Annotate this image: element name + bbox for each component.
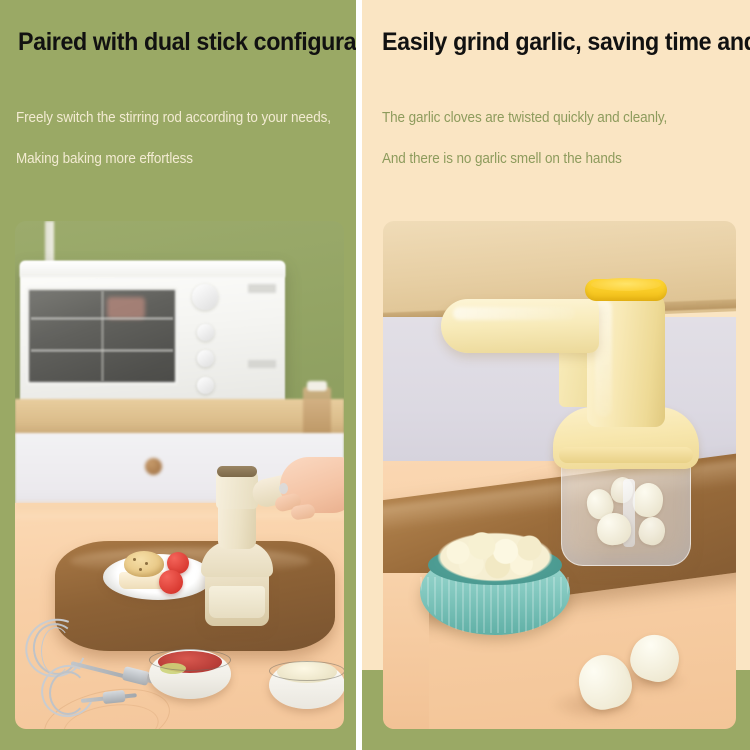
handle-highlight [453, 307, 575, 320]
left-scene [15, 221, 344, 729]
fingernail [279, 483, 288, 494]
pastry-seed [145, 562, 148, 565]
right-scene [383, 221, 736, 729]
ramekin-rim [269, 661, 344, 681]
panel-left: Paired with dual stick configuration Fre… [0, 0, 356, 750]
product-feature-banner: Paired with dual stick configuration Fre… [0, 0, 750, 750]
right-headline: Easily grind garlic, saving time and eff… [382, 28, 750, 57]
oven-knob [197, 324, 214, 341]
ramekin-rim [149, 649, 231, 671]
cabinet-knob [145, 458, 162, 475]
left-product-photo [15, 221, 344, 729]
chopper-contents [209, 586, 265, 618]
yellow-cap-face [591, 278, 661, 291]
panel-right: Easily grind garlic, saving time and eff… [362, 0, 750, 750]
whisk-collar [122, 666, 151, 686]
chopper-cap-ring [559, 447, 693, 463]
pastry [124, 551, 164, 577]
left-headline: Paired with dual stick configuration [18, 28, 356, 57]
minced-garlic [429, 529, 561, 585]
whisk-wire [49, 671, 87, 715]
left-body-line-2: Making baking more effortless [16, 151, 193, 167]
pastry-seed [139, 568, 142, 571]
chopper-top-cap [217, 466, 257, 477]
oven-rack-divider [101, 291, 104, 381]
right-body-line-1: The garlic cloves are twisted quickly an… [382, 110, 667, 126]
oven-knob [197, 377, 214, 394]
whisk-collar [102, 690, 125, 704]
whisk-attachments [19, 617, 169, 729]
background-jar-lid [307, 381, 327, 391]
cherry-tomato [159, 570, 183, 594]
toaster-oven-top [20, 261, 285, 277]
oven-knob [197, 350, 214, 367]
oven-label [248, 284, 276, 293]
left-body-line-1: Freely switch the stirring rod according… [16, 110, 331, 126]
pastry-seed [133, 558, 136, 561]
right-product-photo [383, 221, 736, 729]
wood-countertop [15, 399, 344, 437]
oven-label [248, 360, 276, 368]
oven-knob [192, 284, 218, 310]
right-body-line-2: And there is no garlic smell on the hand… [382, 151, 622, 167]
background-jar [303, 387, 331, 439]
oven-food [107, 297, 145, 319]
